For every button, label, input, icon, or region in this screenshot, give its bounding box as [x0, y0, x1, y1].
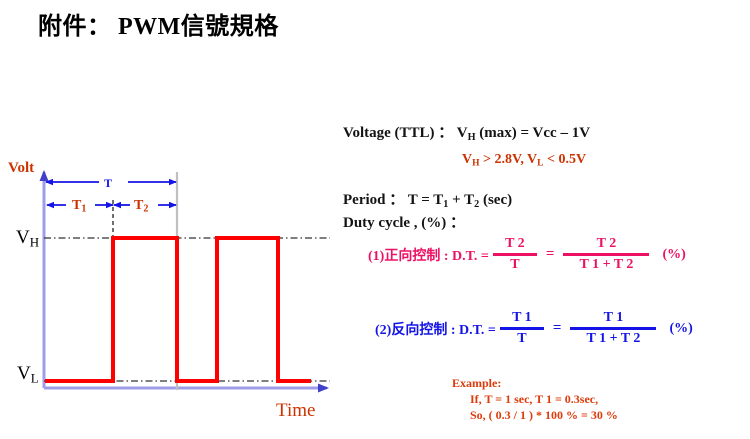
- period-measure-label: T: [104, 176, 112, 191]
- t1-symbol: T: [72, 198, 81, 213]
- formula-2-bar-a: [500, 327, 544, 330]
- formula-2-equals: =: [553, 320, 562, 337]
- period-spec-end: (sec): [479, 192, 512, 208]
- formula-1-fraction-a: T 2 T: [493, 236, 537, 273]
- threshold-middle: > 2.8V, V: [480, 152, 538, 167]
- t1-subscript: 1: [81, 204, 86, 215]
- example-block: Example: If, T = 1 sec, T 1 = 0.3sec, So…: [452, 375, 618, 424]
- duty-cycle-formula-reverse: (2)反向控制 : D.T. = T 1 T = T 1 T 1 + T 2 (…: [375, 310, 693, 347]
- voltage-spec-subscript: H: [468, 132, 476, 143]
- threshold-end: < 0.5V: [544, 152, 587, 167]
- t2-measure-label: T2: [134, 198, 148, 215]
- vh-symbol: V: [16, 227, 30, 248]
- period-spec-line: Period ： T = T1 + T2 (sec): [343, 188, 512, 210]
- formula-1-lead: (1)正向控制 : D.T. =: [368, 245, 489, 265]
- threshold-vh-subscript: H: [472, 159, 479, 169]
- pwm-signal-trace: [45, 238, 311, 381]
- formula-1-fraction-b: T 2 T 1 + T 2: [563, 236, 649, 273]
- t2-subscript: 2: [143, 204, 148, 215]
- formula-2-lead: (2)反向控制 : D.T. =: [375, 319, 496, 339]
- formula-2-denominator-a: T: [515, 331, 528, 347]
- formula-1-equals: =: [546, 246, 555, 263]
- formula-2-percent: (%): [669, 321, 692, 337]
- formula-1-percent: (%): [662, 247, 685, 263]
- duty-cycle-heading: Duty cycle , (%) ：: [343, 211, 465, 232]
- voltage-spec-line: Voltage (TTL) ： VH (max) = Vcc – 1V: [343, 121, 590, 143]
- formula-1-numerator-b: T 2: [595, 236, 619, 252]
- example-line-1: If, T = 1 sec, T 1 = 0.3sec,: [470, 391, 618, 407]
- x-axis-label: Time: [276, 400, 315, 422]
- formula-2-bar-b: [570, 327, 656, 330]
- level-low-label: VL: [17, 363, 39, 387]
- example-line-2: So, ( 0.3 / 1 ) * 100 % = 30 %: [470, 407, 618, 423]
- formula-1-numerator-a: T 2: [503, 236, 527, 252]
- threshold-vh: V: [462, 152, 472, 167]
- duty-cycle-formula-forward: (1)正向控制 : D.T. = T 2 T = T 2 T 1 + T 2 (…: [368, 236, 686, 273]
- formula-2-fraction-a: T 1 T: [500, 310, 544, 347]
- formula-2-fraction-b: T 1 T 1 + T 2: [570, 310, 656, 347]
- period-spec-prefix: Period ： T = T: [343, 192, 443, 208]
- vl-subscript: L: [31, 371, 39, 386]
- period-spec-middle: + T: [448, 192, 474, 208]
- voltage-spec-suffix: (max) = Vcc – 1V: [476, 125, 591, 141]
- formula-2-numerator-b: T 1: [602, 310, 626, 326]
- formula-1-bar-b: [563, 253, 649, 256]
- formula-1-denominator-a: T: [508, 257, 521, 273]
- t2-symbol: T: [134, 198, 143, 213]
- voltage-spec-prefix: Voltage (TTL) ： V: [343, 125, 468, 141]
- level-high-label: VH: [16, 227, 39, 251]
- vh-subscript: H: [30, 235, 39, 250]
- vl-symbol: V: [17, 363, 31, 384]
- threshold-spec-line: VH > 2.8V, VL < 0.5V: [462, 152, 586, 169]
- formula-1-denominator-b: T 1 + T 2: [577, 257, 635, 273]
- formula-1-bar-a: [493, 253, 537, 256]
- y-axis-label: Volt: [8, 160, 34, 177]
- formula-2-numerator-a: T 1: [510, 310, 534, 326]
- formula-2-denominator-b: T 1 + T 2: [584, 331, 642, 347]
- t1-measure-label: T1: [72, 198, 86, 215]
- example-heading: Example:: [452, 375, 618, 391]
